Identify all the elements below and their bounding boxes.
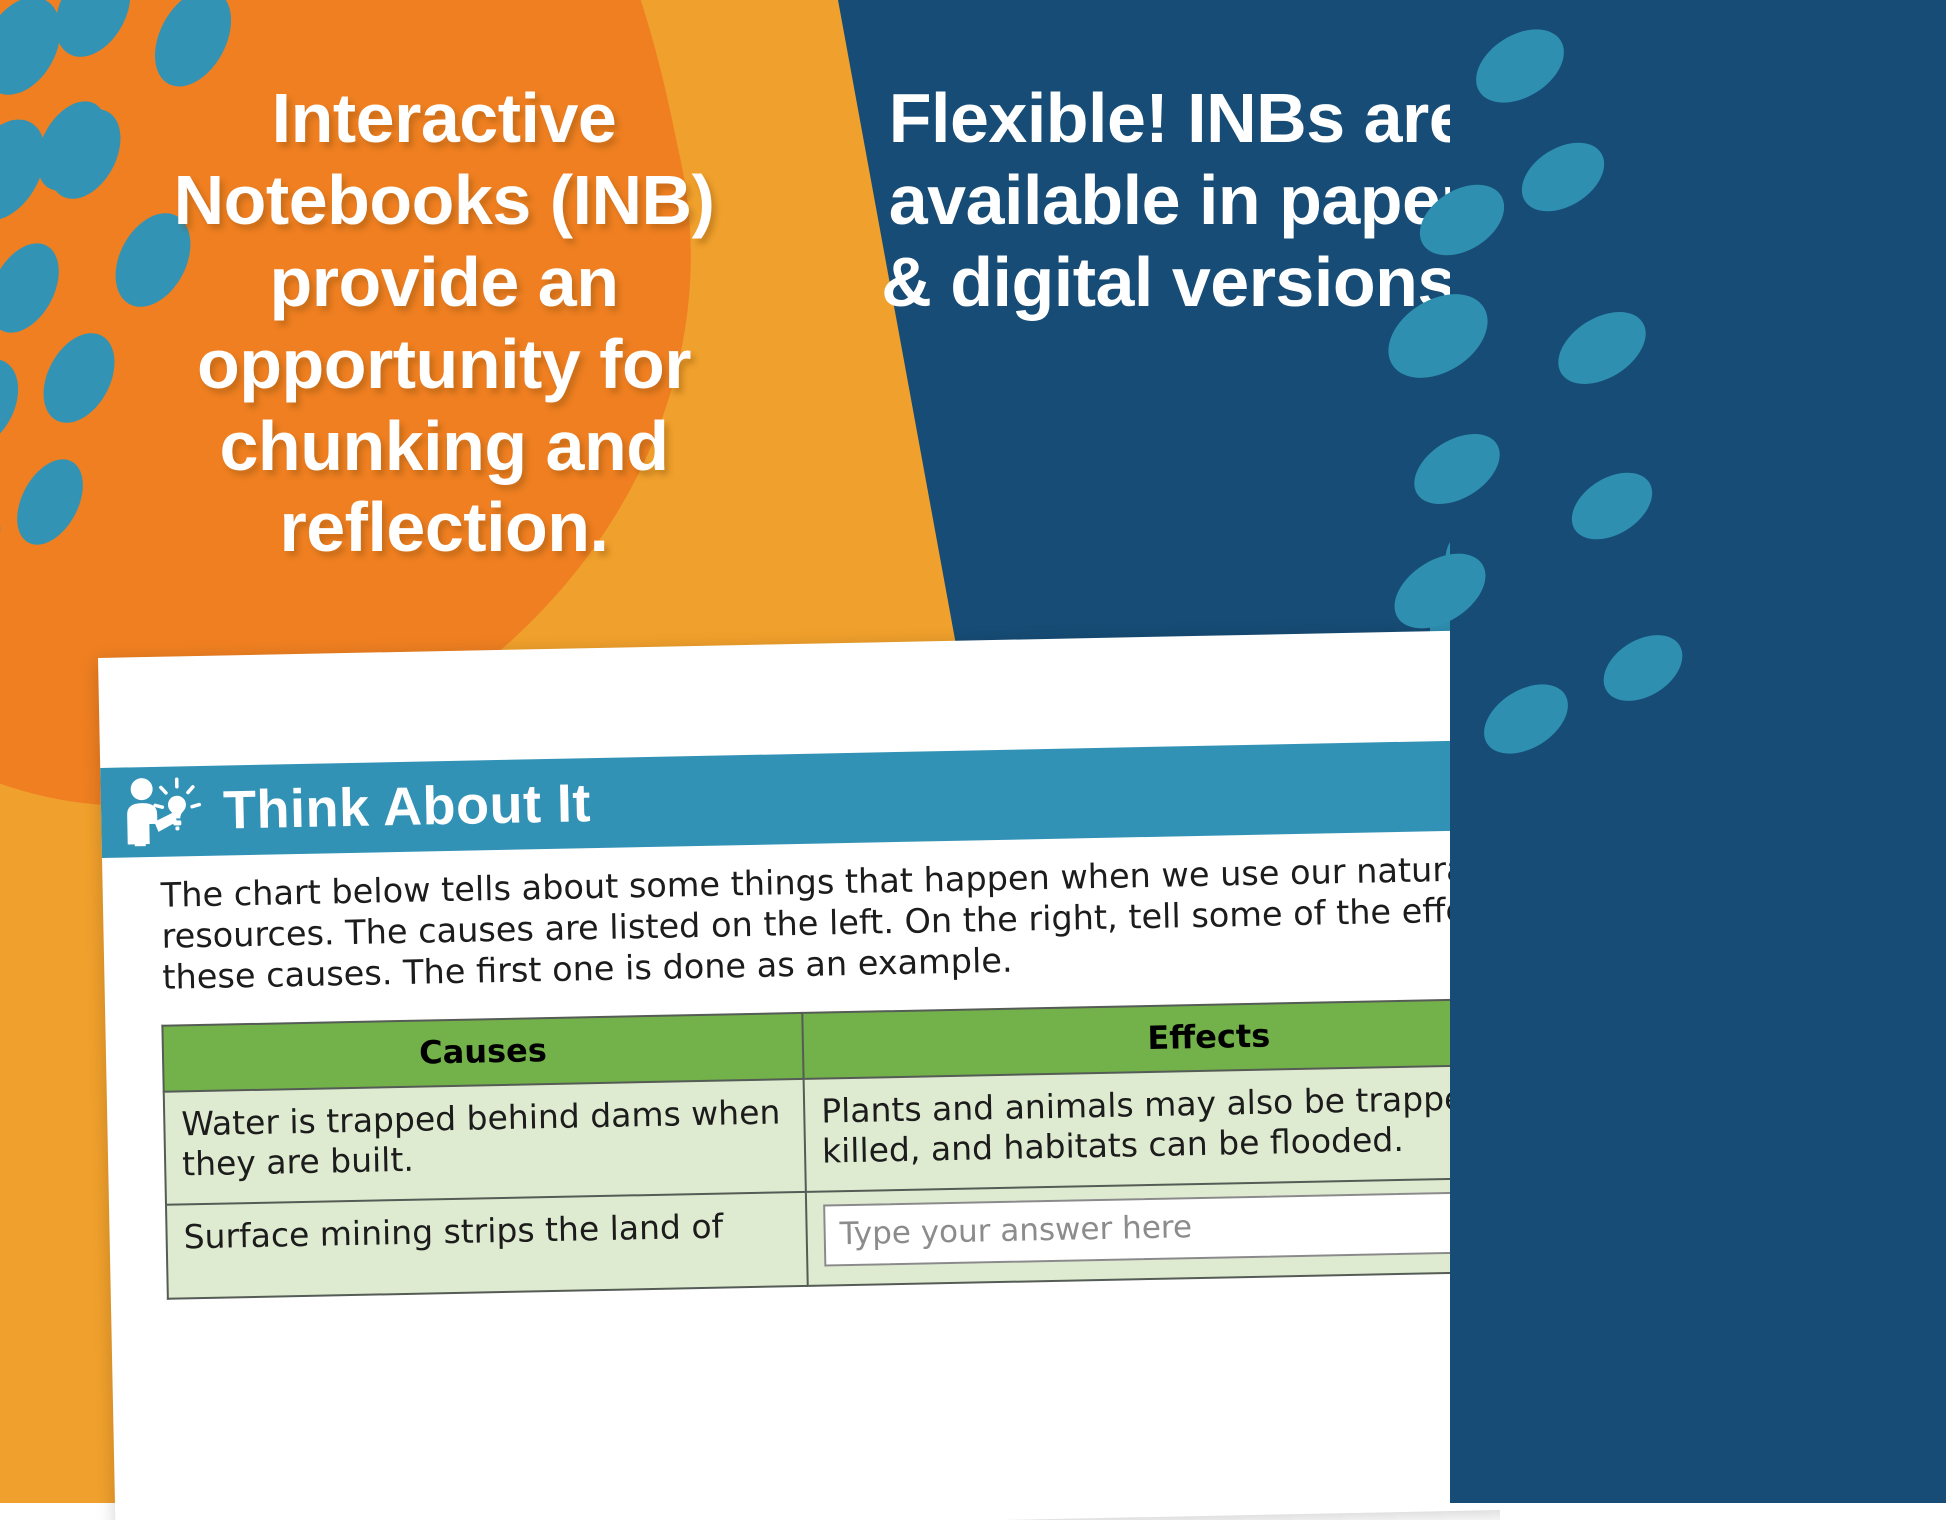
effect-cell: Plants and animals may also be trapped o…	[804, 1063, 1500, 1192]
worksheet-card: Think About It The chart below tells abo…	[98, 627, 1500, 1520]
decorative-dot	[1472, 670, 1581, 768]
decorative-dot	[1509, 129, 1616, 226]
navy-panel-overlay	[1450, 0, 1946, 1503]
answer-input[interactable]: Type your answer here	[823, 1188, 1500, 1266]
cause-cell: Surface mining strips the land of	[166, 1191, 808, 1298]
causes-effects-table: Causes Effects Water is trapped behind d…	[161, 996, 1500, 1300]
headline-right: Flexible! INBs are available in paper & …	[870, 78, 1486, 324]
headline-left: Interactive Notebooks (INB) provide an o…	[92, 78, 796, 569]
table-body: Water is trapped behind dams when they a…	[164, 1063, 1500, 1299]
think-about-it-banner: Think About It	[100, 737, 1500, 858]
decorative-dot	[1463, 14, 1577, 117]
worksheet-card-container: Think About It The chart below tells abo…	[0, 620, 1500, 1520]
worksheet-instructions: The chart below tells about some things …	[160, 846, 1500, 998]
cause-cell: Water is trapped behind dams when they a…	[164, 1079, 806, 1204]
person-with-lightbulb-icon	[120, 773, 208, 851]
think-about-it-title: Think About It	[222, 772, 591, 841]
decorative-dot	[1560, 459, 1664, 553]
effect-cell: Type your answer here	[806, 1175, 1500, 1285]
decorative-dot	[1545, 297, 1658, 399]
decorative-dot	[1592, 621, 1695, 714]
